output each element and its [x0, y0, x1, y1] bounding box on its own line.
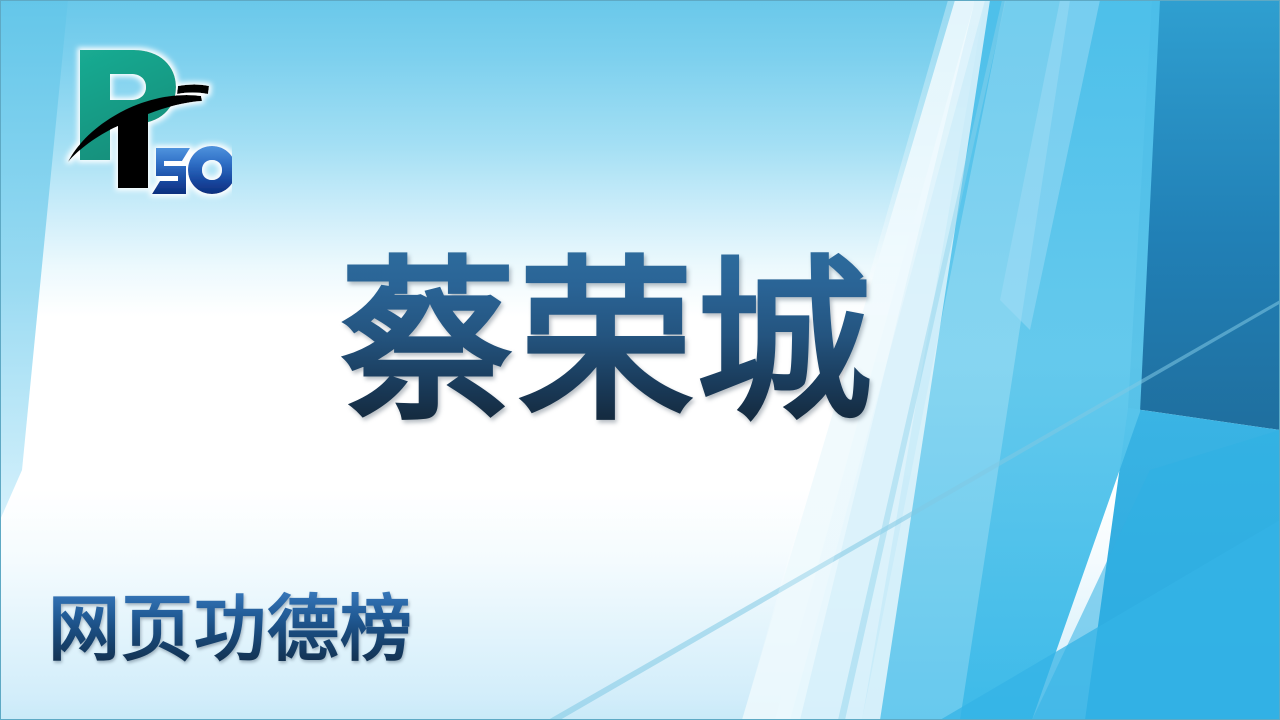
pso-logo	[52, 28, 232, 208]
footer-wordmark: 网页功德榜	[48, 586, 413, 672]
page-title: 蔡荣城	[340, 243, 960, 453]
title-slide: 蔡荣城 网页功德榜	[0, 0, 1280, 720]
logo-swoosh-tail	[177, 85, 209, 95]
logo-so-text	[152, 146, 232, 194]
